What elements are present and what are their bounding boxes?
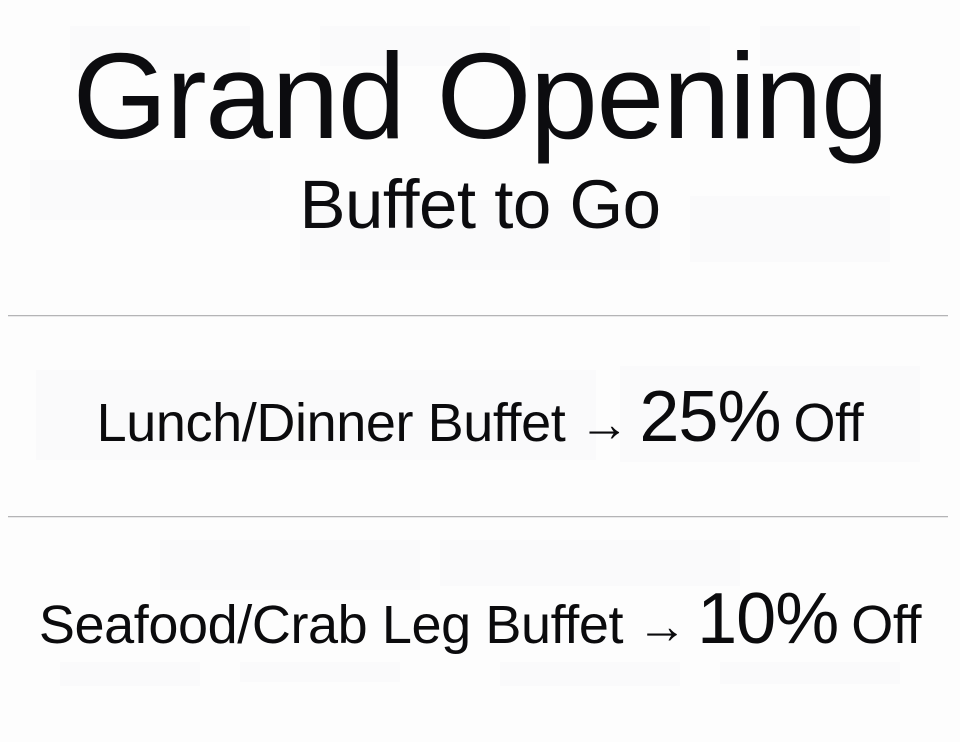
page-subtitle: Buffet to Go: [0, 169, 960, 241]
offer-item-label: Seafood/Crab Leg Buffet: [39, 595, 623, 655]
offer-row-seafood-crab-leg: Seafood/Crab Leg Buffet→10%Off: [0, 583, 960, 655]
page-title: Grand Opening: [0, 32, 960, 161]
offer-discount-value: 25%: [639, 377, 780, 457]
divider-bottom: [8, 516, 948, 518]
divider-top: [8, 315, 948, 317]
arrow-right-icon: →: [623, 598, 697, 654]
offer-discount-suffix: Off: [781, 393, 864, 453]
offer-item-label: Lunch/Dinner Buffet: [97, 393, 566, 453]
offer-row-lunch-dinner: Lunch/Dinner Buffet→25%Off: [0, 381, 960, 453]
offer-discount-suffix: Off: [838, 595, 921, 655]
offer-discount-value: 10%: [697, 579, 838, 659]
promo-poster: Grand Opening Buffet to Go Lunch/Dinner …: [0, 0, 960, 742]
poster-heading-block: Grand Opening Buffet to Go: [0, 32, 960, 241]
arrow-right-icon: →: [565, 396, 639, 452]
